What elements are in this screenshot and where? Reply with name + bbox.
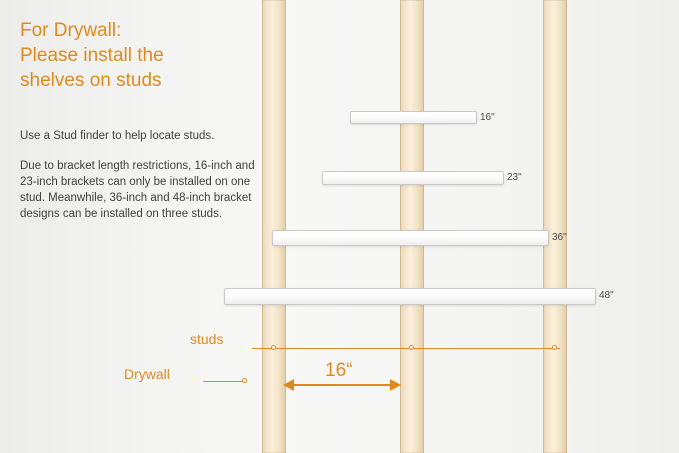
- page-title-line-1: For Drywall:: [20, 18, 260, 43]
- shelf-48-label: 48": [599, 290, 614, 301]
- shelf-23: [322, 171, 504, 185]
- stud-right: [543, 0, 567, 453]
- stud-center: [400, 0, 424, 453]
- stud-left-edge: [543, 0, 544, 453]
- studs-marker-center: [409, 345, 414, 350]
- page-title-line-3: shelves on studs: [20, 68, 260, 93]
- shelf-36-label: 36": [552, 232, 567, 243]
- drywall-leader-line: [203, 381, 244, 382]
- dimension-line: [292, 384, 399, 386]
- shelf-16-label: 16": [480, 112, 495, 123]
- shelf-23-label: 23": [507, 172, 522, 183]
- shelf-48: [224, 288, 596, 305]
- drywall-marker: [242, 378, 247, 383]
- dimension-label: 16“: [325, 360, 352, 382]
- stud-right-edge: [423, 0, 424, 453]
- drywall-callout-label: Drywall: [124, 366, 170, 382]
- studs-marker-right: [552, 345, 557, 350]
- stud-right-edge: [566, 0, 567, 453]
- shelf-16: [350, 111, 477, 124]
- page-title-line-2: Please install the: [20, 43, 260, 68]
- drywall-instruction-diagram: For Drywall: Please install the shelves …: [0, 0, 679, 453]
- studs-callout-label: studs: [190, 331, 223, 347]
- stud-left-edge: [262, 0, 263, 453]
- page-title: For Drywall: Please install the shelves …: [20, 18, 260, 93]
- dimension-arrow-right: [390, 379, 401, 391]
- shelf-36: [272, 230, 549, 246]
- studs-leader-line: [252, 348, 560, 349]
- studs-marker-left: [271, 345, 276, 350]
- instruction-paragraph-1: Use a Stud finder to help locate studs.: [20, 128, 265, 144]
- instruction-paragraph-2: Due to bracket length restrictions, 16-i…: [20, 158, 268, 222]
